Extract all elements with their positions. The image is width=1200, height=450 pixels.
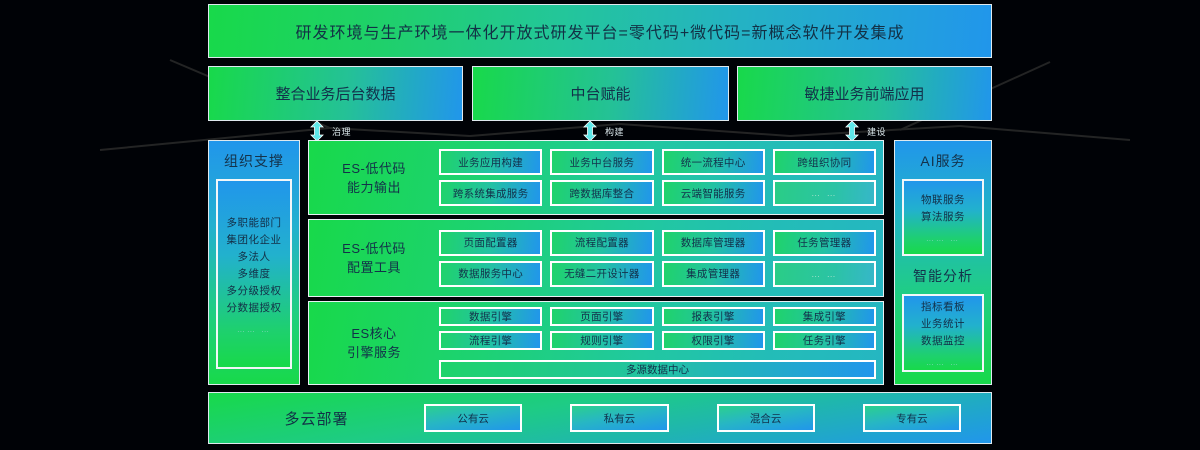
section-lowcode-capability: ES-低代码 能力输出 业务应用构建 业务中台服务 统一流程中心 跨组织协同 跨… <box>308 140 884 215</box>
cloud-chip-dedicated[interactable]: 专有云 <box>863 404 961 432</box>
capability-chip-more[interactable]: … … <box>773 180 876 206</box>
config-tool-chip[interactable]: 无缝二开设计器 <box>550 261 653 287</box>
org-support-item: 集团化企业 <box>227 232 282 249</box>
ai-analytics-column[interactable]: AI服务 物联服务 算法服务 …… … 智能分析 指标看板 业务统计 数据监控 … <box>894 140 992 385</box>
capability-sections: ES-低代码 能力输出 业务应用构建 业务中台服务 统一流程中心 跨组织协同 跨… <box>308 140 884 385</box>
section-core-engine-services: ES核心 引擎服务 数据引擎 页面引擎 报表引擎 集成引擎 流程引擎 规则引擎 … <box>308 301 884 385</box>
org-support-item: 多分级授权 <box>227 283 282 300</box>
smart-analysis-list: 指标看板 业务统计 数据监控 …… … <box>902 294 984 372</box>
ai-service-title: AI服务 <box>895 141 991 171</box>
smart-analysis-item: 数据监控 <box>921 333 965 350</box>
engine-chip[interactable]: 流程引擎 <box>439 331 542 350</box>
connector-label: 治理 <box>332 125 351 138</box>
chip-row: 数据引擎 页面引擎 报表引擎 集成引擎 <box>439 307 876 326</box>
section-label-line1: ES-低代码 <box>342 159 406 178</box>
engine-chip[interactable]: 数据引擎 <box>439 307 542 326</box>
engine-chip[interactable]: 集成引擎 <box>773 307 876 326</box>
org-support-item: 分数据授权 <box>227 300 282 317</box>
tier2-box-backend-data[interactable]: 整合业务后台数据 <box>208 66 463 121</box>
org-support-item: 多法人 <box>238 249 271 266</box>
tier2-label: 中台赋能 <box>570 83 630 104</box>
smart-analysis-title: 智能分析 <box>895 256 991 286</box>
chip-row: 业务应用构建 业务中台服务 统一流程中心 跨组织协同 <box>439 149 876 175</box>
org-support-column[interactable]: 组织支撑 多职能部门 集团化企业 多法人 多维度 多分级授权 分数据授权 …… … <box>208 140 300 385</box>
section-label-line2: 引擎服务 <box>347 343 401 362</box>
chip-row: 数据服务中心 无缝二开设计器 集成管理器 … … <box>439 261 876 287</box>
config-tool-chip[interactable]: 流程配置器 <box>550 230 653 256</box>
smart-analysis-item: 业务统计 <box>921 316 965 333</box>
ai-service-list: 物联服务 算法服务 …… … <box>902 179 984 256</box>
tier2-box-frontend-apps[interactable]: 敏捷业务前端应用 <box>737 66 992 121</box>
cloud-chip-public[interactable]: 公有云 <box>424 404 522 432</box>
config-tool-chip-more[interactable]: … … <box>773 261 876 287</box>
capability-chip[interactable]: 跨数据库整合 <box>550 180 653 206</box>
engine-chip[interactable]: 报表引擎 <box>662 307 765 326</box>
tier2-label: 整合业务后台数据 <box>275 83 395 104</box>
platform-banner-title: 研发环境与生产环境一体化开放式研发平台=零代码+微代码=新概念软件开发集成 <box>295 19 904 43</box>
engine-chip[interactable]: 任务引擎 <box>773 331 876 350</box>
connector-label: 构建 <box>605 125 624 138</box>
config-tool-chip[interactable]: 任务管理器 <box>773 230 876 256</box>
section-label: ES-低代码 配置工具 <box>309 220 439 296</box>
org-support-list: 多职能部门 集团化企业 多法人 多维度 多分级授权 分数据授权 …… … <box>216 179 292 369</box>
section-chip-grid: 数据引擎 页面引擎 报表引擎 集成引擎 流程引擎 规则引擎 权限引擎 任务引擎 … <box>439 302 883 384</box>
multicloud-deployment-title: 多云部署 <box>209 408 424 429</box>
chip-row: 跨系统集成服务 跨数据库整合 云端智能服务 … … <box>439 180 876 206</box>
platform-banner: 研发环境与生产环境一体化开放式研发平台=零代码+微代码=新概念软件开发集成 <box>208 4 992 58</box>
platform-middle-band: 组织支撑 多职能部门 集团化企业 多法人 多维度 多分级授权 分数据授权 …… … <box>208 140 992 385</box>
org-support-title: 组织支撑 <box>209 141 299 171</box>
double-arrow-icon <box>583 121 597 141</box>
connector-build: 构建 <box>583 120 624 142</box>
ai-service-ellipsis: …… … <box>926 234 960 243</box>
cloud-chip-group: 公有云 私有云 混合云 专有云 <box>424 404 991 432</box>
capability-chip[interactable]: 云端智能服务 <box>662 180 765 206</box>
section-chip-grid: 页面配置器 流程配置器 数据库管理器 任务管理器 数据服务中心 无缝二开设计器 … <box>439 220 883 296</box>
capability-chip[interactable]: 业务应用构建 <box>439 149 542 175</box>
double-arrow-icon <box>845 121 859 141</box>
connector-governance: 治理 <box>310 120 351 142</box>
section-label-line2: 能力输出 <box>347 178 401 197</box>
section-label-line1: ES核心 <box>351 324 396 343</box>
tier2-box-midplatform[interactable]: 中台赋能 <box>472 66 729 121</box>
engine-chip[interactable]: 页面引擎 <box>550 307 653 326</box>
org-support-ellipsis: …… … <box>237 325 271 334</box>
section-lowcode-config-tools: ES-低代码 配置工具 页面配置器 流程配置器 数据库管理器 任务管理器 数据服… <box>308 219 884 297</box>
config-tool-chip[interactable]: 数据服务中心 <box>439 261 542 287</box>
org-support-item: 多维度 <box>238 266 271 283</box>
multicloud-deployment-bar: 多云部署 公有云 私有云 混合云 专有云 <box>208 392 992 444</box>
section-chip-grid: 业务应用构建 业务中台服务 统一流程中心 跨组织协同 跨系统集成服务 跨数据库整… <box>439 141 883 214</box>
config-tool-chip[interactable]: 数据库管理器 <box>662 230 765 256</box>
cloud-chip-hybrid[interactable]: 混合云 <box>717 404 815 432</box>
engine-chip[interactable]: 权限引擎 <box>662 331 765 350</box>
config-tool-chip[interactable]: 集成管理器 <box>662 261 765 287</box>
ai-service-item: 算法服务 <box>921 209 965 226</box>
org-support-item: 多职能部门 <box>227 215 282 232</box>
connector-label: 建设 <box>867 125 886 138</box>
chip-row: 页面配置器 流程配置器 数据库管理器 任务管理器 <box>439 230 876 256</box>
smart-analysis-item: 指标看板 <box>921 299 965 316</box>
capability-chip[interactable]: 跨组织协同 <box>773 149 876 175</box>
capability-chip[interactable]: 业务中台服务 <box>550 149 653 175</box>
tier2-label: 敏捷业务前端应用 <box>804 83 924 104</box>
chip-row: 流程引擎 规则引擎 权限引擎 任务引擎 <box>439 331 876 350</box>
section-label: ES核心 引擎服务 <box>309 302 439 384</box>
section-label-line2: 配置工具 <box>347 258 401 277</box>
engine-chip[interactable]: 规则引擎 <box>550 331 653 350</box>
connector-construction: 建设 <box>845 120 886 142</box>
capability-chip[interactable]: 跨系统集成服务 <box>439 180 542 206</box>
ai-service-item: 物联服务 <box>921 192 965 209</box>
cloud-chip-private[interactable]: 私有云 <box>570 404 668 432</box>
config-tool-chip[interactable]: 页面配置器 <box>439 230 542 256</box>
diagram-canvas: 研发环境与生产环境一体化开放式研发平台=零代码+微代码=新概念软件开发集成 整合… <box>0 0 1200 450</box>
double-arrow-icon <box>310 121 324 141</box>
smart-analysis-ellipsis: …… … <box>926 358 960 367</box>
section-label: ES-低代码 能力输出 <box>309 141 439 214</box>
section-label-line1: ES-低代码 <box>342 239 406 258</box>
capability-chip[interactable]: 统一流程中心 <box>662 149 765 175</box>
multi-source-data-center-chip[interactable]: 多源数据中心 <box>439 360 876 379</box>
